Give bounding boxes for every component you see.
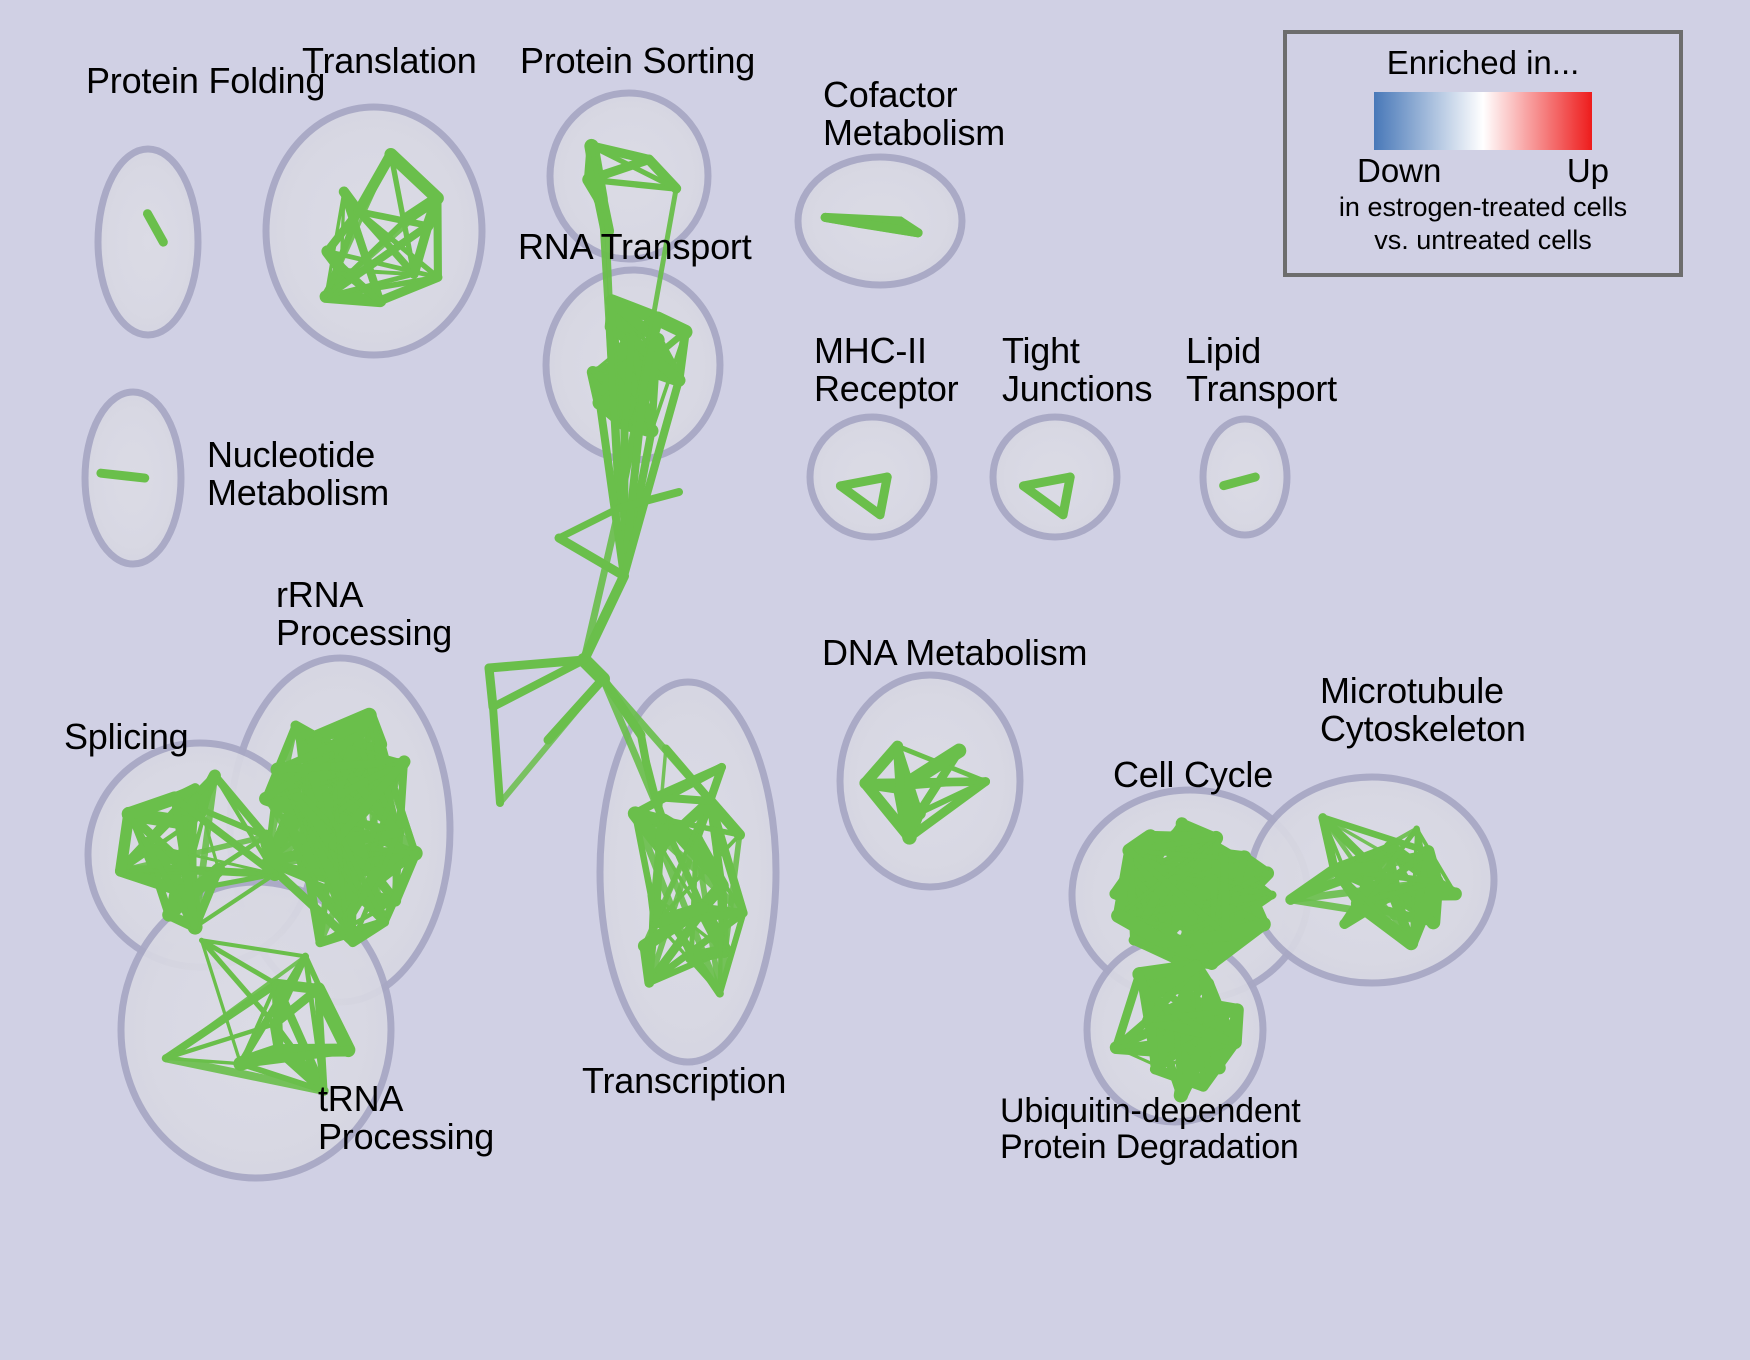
legend-caption-line-1: in estrogen-treated cells: [1287, 192, 1679, 223]
legend-high-label: Up: [1567, 152, 1609, 190]
legend-box: Enriched in... Down Up in estrogen-treat…: [1283, 30, 1683, 277]
legend-color-gradient: [1374, 92, 1592, 150]
cluster-label: Cofactor Metabolism: [823, 76, 1005, 152]
cluster-label: Transcription: [582, 1062, 786, 1100]
cluster-label: Translation: [302, 42, 477, 80]
edge: [121, 871, 275, 874]
cluster-label: DNA Metabolism: [822, 634, 1087, 672]
legend-caption-line-2: vs. untreated cells: [1287, 225, 1679, 256]
edge: [548, 679, 603, 740]
cluster-ellipse: [98, 149, 198, 335]
edge: [1224, 858, 1226, 935]
edge: [898, 746, 901, 788]
cluster-label: Microtubule Cytoskeleton: [1320, 672, 1526, 748]
edge: [641, 735, 646, 762]
cluster-label: RNA Transport: [518, 228, 752, 266]
cluster-label: Ubiquitin-dependent Protein Degradation: [1000, 1093, 1301, 1165]
cluster-label: MHC-II Receptor: [814, 332, 958, 408]
cluster-label: Nucleotide Metabolism: [207, 436, 389, 512]
cluster-label: rRNA Processing: [276, 576, 452, 652]
cluster-label: Lipid Transport: [1186, 332, 1337, 408]
edge: [493, 707, 500, 803]
cluster-label: Tight Junctions: [1002, 332, 1152, 408]
enrichment-map-figure: Protein FoldingTranslationProtein Sortin…: [0, 0, 1750, 1360]
edge: [101, 473, 145, 478]
cluster-label: Cell Cycle: [1113, 756, 1273, 794]
edge: [584, 508, 619, 660]
legend-low-label: Down: [1357, 152, 1441, 190]
legend-title: Enriched in...: [1287, 44, 1679, 82]
cluster-label: Splicing: [64, 718, 188, 756]
cluster-label: Protein Folding: [86, 62, 325, 100]
edge: [1165, 935, 1226, 942]
edge: [656, 847, 660, 923]
cluster-label: Protein Sorting: [520, 42, 755, 80]
edge: [1334, 868, 1373, 870]
edge: [489, 668, 493, 707]
cluster-label: tRNA Processing: [318, 1080, 494, 1156]
